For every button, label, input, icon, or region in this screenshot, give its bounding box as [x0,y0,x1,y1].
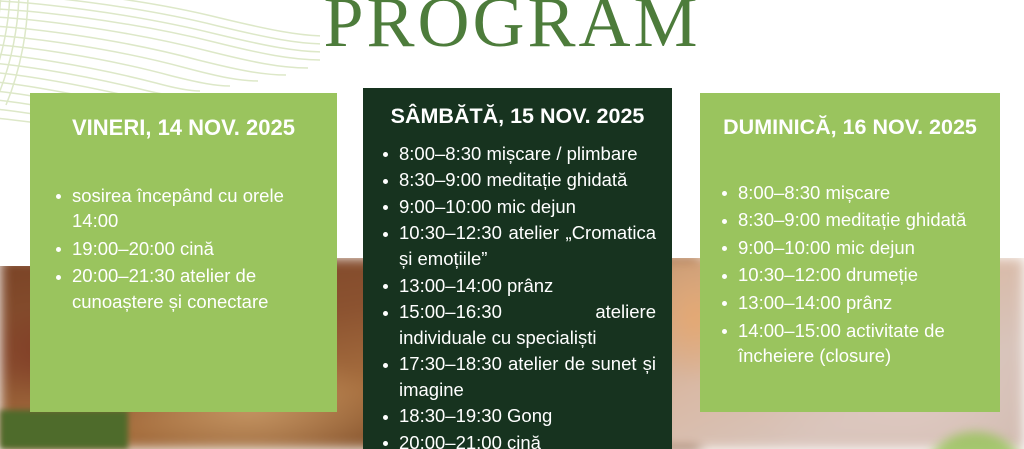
list-item: 10:30–12:00 drumeție [718,262,982,288]
column-title-saturday: SÂMBĂTĂ, 15 NOV. 2025 [379,104,656,129]
list-item: 20:00–21:00 cină [379,430,656,449]
schedule-list-saturday: 8:00–8:30 mișcare / plimbare 8:30–9:00 m… [379,141,656,449]
list-item: 20:00–21:30 atelier de cunoaștere și con… [52,263,315,314]
list-item: 15:00–16:30 ateliere individuale cu spec… [379,299,656,350]
schedule-list-friday: sosirea începând cu orele 14:00 19:00–20… [52,183,315,315]
column-title-sunday: DUMINICĂ, 16 NOV. 2025 [718,115,982,140]
column-card-sunday: DUMINICĂ, 16 NOV. 2025 8:00–8:30 mișcare… [700,93,1000,412]
list-item: 8:00–8:30 mișcare / plimbare [379,141,656,167]
list-item: 8:30–9:00 meditație ghidată [379,167,656,193]
list-item: 19:00–20:00 cină [52,236,315,262]
list-item: 14:00–15:00 activitate de încheiere (clo… [718,318,982,369]
list-item: 18:30–19:30 Gong [379,403,656,429]
photo-green-strip [0,410,128,449]
list-item: 13:00–14:00 prânz [379,273,656,299]
list-item: 13:00–14:00 prânz [718,290,982,316]
column-card-saturday: SÂMBĂTĂ, 15 NOV. 2025 8:00–8:30 mișcare … [363,88,672,449]
list-item: 17:30–18:30 atelier de sunet și imagine [379,351,656,402]
list-item: 9:00–10:00 mic dejun [718,235,982,261]
column-title-friday: VINERI, 14 NOV. 2025 [52,115,315,141]
list-item: 9:00–10:00 mic dejun [379,194,656,220]
list-item: 8:00–8:30 mișcare [718,180,982,206]
page-title: PROGRAM [0,0,1024,58]
program-poster: PROGRAM VINERI, 14 NOV. 2025 sosirea înc… [0,0,1024,449]
list-item: sosirea începând cu orele 14:00 [52,183,315,234]
schedule-list-sunday: 8:00–8:30 mișcare 8:30–9:00 meditație gh… [718,180,982,369]
list-item: 8:30–9:00 meditație ghidată [718,207,982,233]
list-item: 10:30–12:30 atelier „Cromatica și emoții… [379,220,656,271]
column-card-friday: VINERI, 14 NOV. 2025 sosirea începând cu… [30,93,337,412]
